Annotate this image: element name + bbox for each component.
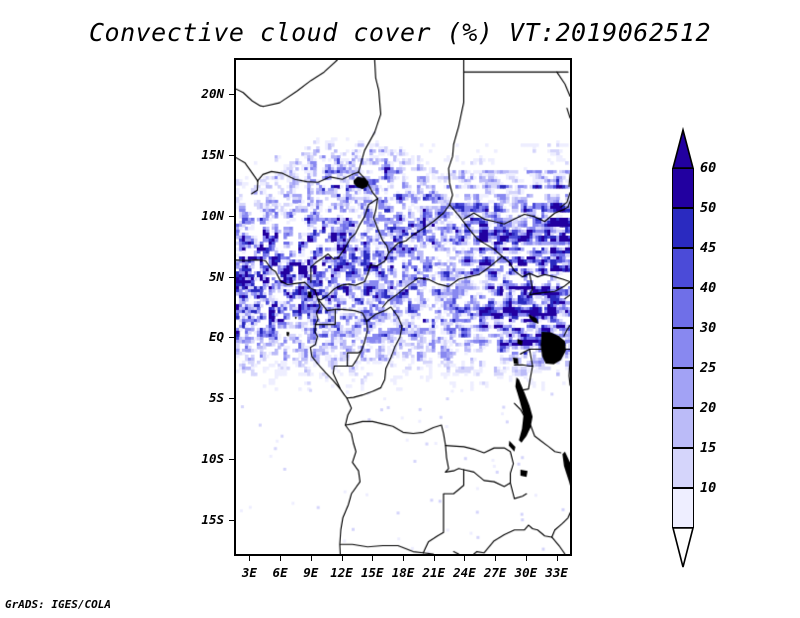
y-axis-label: 15S bbox=[164, 512, 224, 527]
y-axis-tick bbox=[229, 398, 234, 399]
colorbar-swatch bbox=[672, 448, 694, 488]
footer-credit: GrADS: IGES/COLA bbox=[5, 598, 111, 611]
colorbar-label: 60 bbox=[700, 160, 716, 176]
x-axis-tick bbox=[403, 556, 404, 561]
y-axis-label: 5S bbox=[164, 390, 224, 405]
grads-plot-page: Convective cloud cover (%) VT:2019062512… bbox=[0, 0, 800, 618]
map-plot-area bbox=[234, 58, 572, 556]
y-axis-label: EQ bbox=[164, 329, 224, 344]
colorbar-label: 50 bbox=[700, 200, 716, 216]
colorbar: 605045403025201510 bbox=[672, 128, 694, 498]
y-axis-label: 10S bbox=[164, 451, 224, 466]
colorbar-label: 15 bbox=[700, 440, 716, 456]
x-axis-tick bbox=[280, 556, 281, 561]
colorbar-swatch bbox=[672, 288, 694, 328]
page-title: Convective cloud cover (%) VT:2019062512 bbox=[0, 18, 800, 47]
colorbar-low-arrow bbox=[672, 527, 694, 569]
x-axis-tick bbox=[526, 556, 527, 561]
colorbar-label: 45 bbox=[700, 240, 716, 256]
colorbar-label: 10 bbox=[700, 480, 716, 496]
colorbar-label: 30 bbox=[700, 320, 716, 336]
colorbar-swatch bbox=[672, 408, 694, 448]
x-axis-label: 33E bbox=[529, 565, 585, 580]
x-axis-tick bbox=[342, 556, 343, 561]
y-axis-tick bbox=[229, 277, 234, 278]
colorbar-high-arrow bbox=[672, 128, 694, 169]
x-axis-tick bbox=[372, 556, 373, 561]
x-axis-tick bbox=[434, 556, 435, 561]
y-axis-tick bbox=[229, 155, 234, 156]
y-axis-tick bbox=[229, 459, 234, 460]
colorbar-swatch bbox=[672, 168, 694, 208]
colorbar-swatch bbox=[672, 208, 694, 248]
colorbar-swatch bbox=[672, 368, 694, 408]
x-axis-tick bbox=[249, 556, 250, 561]
y-axis-label: 5N bbox=[164, 269, 224, 284]
colorbar-swatch bbox=[672, 328, 694, 368]
coastline-border-overlay bbox=[236, 60, 570, 554]
colorbar-label: 20 bbox=[700, 400, 716, 416]
y-axis-label: 15N bbox=[164, 147, 224, 162]
x-axis-tick bbox=[495, 556, 496, 561]
colorbar-swatch bbox=[672, 248, 694, 288]
colorbar-label: 40 bbox=[700, 280, 716, 296]
y-axis-tick bbox=[229, 94, 234, 95]
y-axis-tick bbox=[229, 520, 234, 521]
y-axis-tick bbox=[229, 337, 234, 338]
y-axis-label: 20N bbox=[164, 86, 224, 101]
y-axis-label: 10N bbox=[164, 208, 224, 223]
x-axis-tick bbox=[557, 556, 558, 561]
x-axis-tick bbox=[464, 556, 465, 561]
x-axis-tick bbox=[311, 556, 312, 561]
colorbar-swatch bbox=[672, 488, 694, 528]
colorbar-label: 25 bbox=[700, 360, 716, 376]
y-axis-tick bbox=[229, 216, 234, 217]
